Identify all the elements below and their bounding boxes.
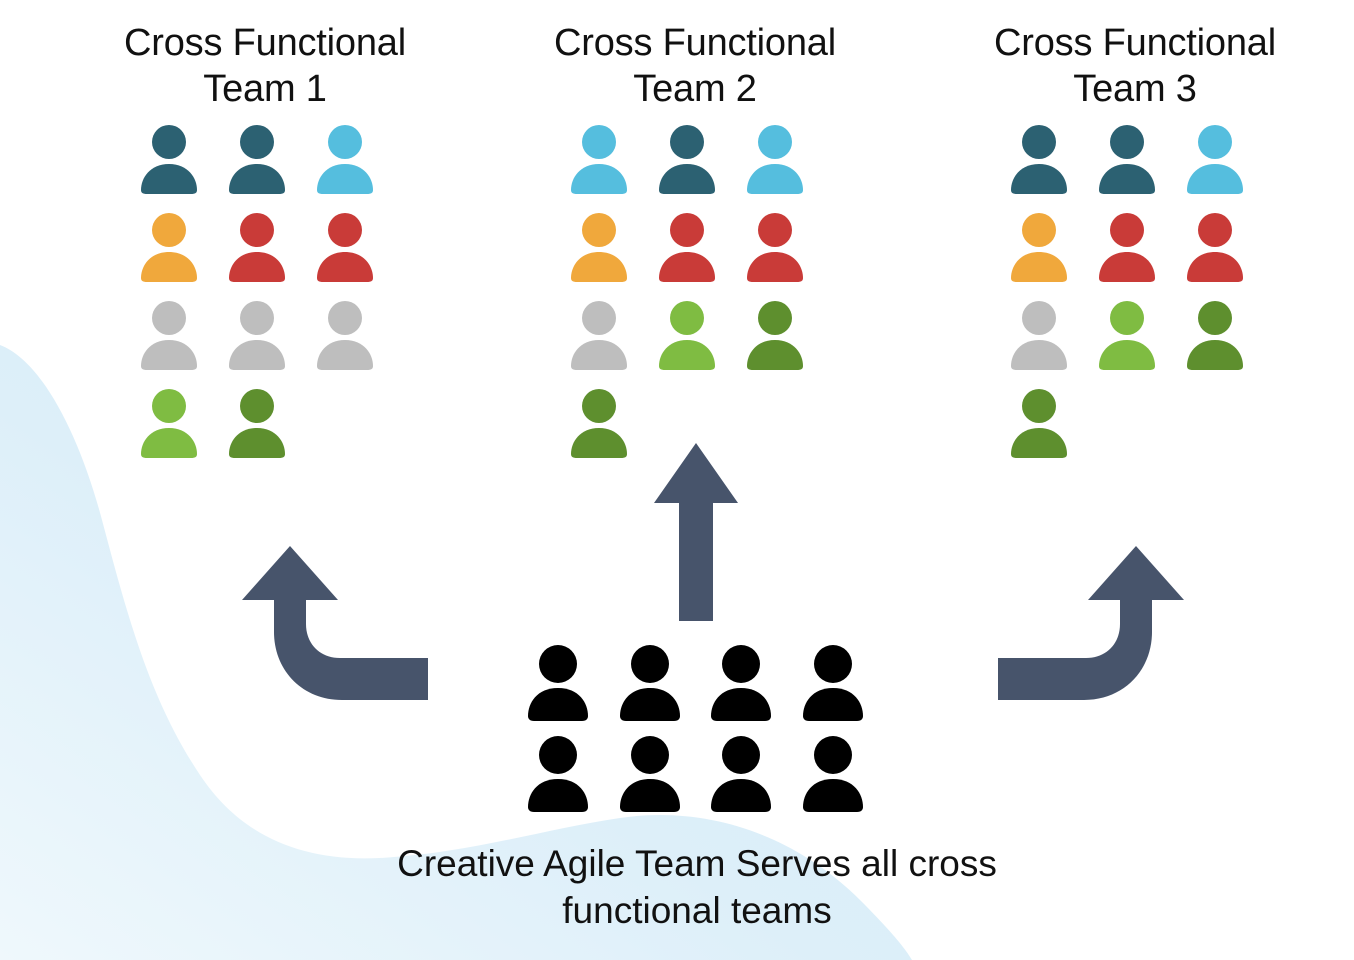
person-icon (1096, 212, 1158, 282)
person-icon (226, 212, 288, 282)
arrow-right-up-icon (998, 540, 1198, 700)
team-block-1: Cross Functional Team 1 (95, 20, 435, 484)
person-icon (226, 388, 288, 458)
person-icon (800, 645, 866, 721)
team-title: Cross Functional Team 3 (965, 20, 1305, 112)
team-people-grid (560, 124, 830, 484)
person-icon (656, 300, 718, 370)
person-icon (226, 300, 288, 370)
person-icon (1008, 388, 1070, 458)
arrow-up-icon (651, 441, 741, 621)
person-icon (1008, 124, 1070, 194)
person-icon (656, 124, 718, 194)
person-icon (525, 645, 591, 721)
person-icon (1096, 300, 1158, 370)
person-icon (568, 212, 630, 282)
person-icon (568, 300, 630, 370)
person-icon (314, 124, 376, 194)
person-icon (1096, 124, 1158, 194)
person-icon (138, 212, 200, 282)
person-icon (708, 736, 774, 812)
person-icon (656, 212, 718, 282)
person-icon (744, 124, 806, 194)
person-icon (1008, 212, 1070, 282)
team-title: Cross Functional Team 1 (95, 20, 435, 112)
person-icon (617, 645, 683, 721)
core-team-group (512, 645, 882, 825)
person-icon (617, 736, 683, 812)
person-icon (1184, 212, 1246, 282)
person-icon (568, 124, 630, 194)
arrow-left-up-icon (228, 540, 428, 700)
person-icon (314, 300, 376, 370)
person-icon (568, 388, 630, 458)
team-block-3: Cross Functional Team 3 (965, 20, 1305, 484)
team-people-grid (130, 124, 400, 484)
team-people-grid (1000, 124, 1270, 484)
person-icon (226, 124, 288, 194)
team-title: Cross Functional Team 2 (525, 20, 865, 112)
person-icon (1184, 124, 1246, 194)
person-icon (138, 124, 200, 194)
person-icon (1008, 300, 1070, 370)
person-icon (314, 212, 376, 282)
person-icon (744, 212, 806, 282)
diagram-canvas: Cross Functional Team 1 (0, 0, 1354, 960)
person-icon (138, 388, 200, 458)
person-icon (138, 300, 200, 370)
person-icon (800, 736, 866, 812)
person-icon (525, 736, 591, 812)
core-team-caption: Creative Agile Team Serves all cross fun… (277, 840, 1117, 934)
person-icon (744, 300, 806, 370)
team-block-2: Cross Functional Team 2 (525, 20, 865, 484)
person-icon (1184, 300, 1246, 370)
person-icon (708, 645, 774, 721)
